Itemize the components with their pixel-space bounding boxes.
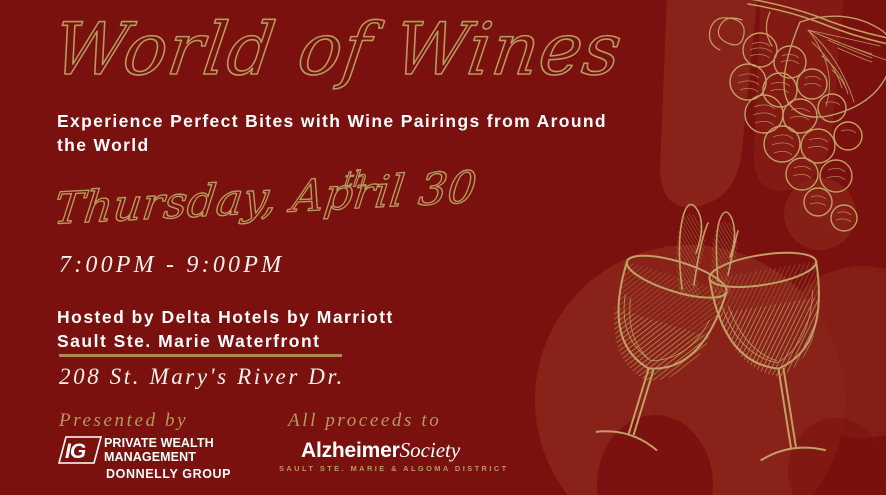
poster-content: World of Wines Experience Perfect Bites … bbox=[57, 0, 677, 495]
alzheimer-society-tagline: SAULT STE. MARIE & ALGOMA DISTRICT bbox=[279, 464, 509, 473]
event-poster: World of Wines Experience Perfect Bites … bbox=[0, 0, 886, 495]
ig-donnelly-group: DONNELLY GROUP bbox=[106, 467, 231, 481]
event-date: Thursday, April 30 th bbox=[59, 172, 389, 242]
alzheimer-society-wordmark: AlzheimerSociety bbox=[301, 438, 460, 463]
gold-divider bbox=[59, 354, 342, 357]
all-proceeds-to-label: All proceeds to bbox=[288, 410, 441, 432]
page-title: World of Wines bbox=[60, 8, 480, 96]
date-script-text: Thursday, April 30 bbox=[51, 162, 480, 234]
ig-line-2: MANAGEMENT bbox=[104, 450, 214, 464]
ig-monogram-text: IG bbox=[65, 440, 86, 463]
ig-wordmark: PRIVATE WEALTH MANAGEMENT bbox=[104, 436, 214, 464]
event-time: 7:00PM - 9:00PM bbox=[59, 252, 284, 279]
event-address: 208 St. Mary's River Dr. bbox=[59, 364, 345, 390]
grape-cluster-icon bbox=[682, 0, 886, 255]
date-ordinal-suffix: th bbox=[343, 166, 369, 193]
alzheimer-word: Alzheimer bbox=[301, 439, 400, 462]
poster-subtitle: Experience Perfect Bites with Wine Pairi… bbox=[57, 110, 637, 157]
ig-monogram-icon: IG bbox=[57, 436, 102, 464]
ig-line-1: PRIVATE WEALTH bbox=[104, 436, 214, 450]
sponsor-logo-ig-private-wealth: IG PRIVATE WEALTH MANAGEMENT DONNELLY GR… bbox=[57, 436, 257, 486]
society-word: Society bbox=[400, 438, 461, 462]
title-script-text: World of Wines bbox=[48, 8, 627, 92]
venue-line-2: Sault Ste. Marie Waterfront bbox=[57, 329, 617, 353]
venue-line-1: Hosted by Delta Hotels by Marriott bbox=[57, 305, 617, 329]
presented-by-label: Presented by bbox=[59, 410, 188, 432]
charity-logo-alzheimer-society: AlzheimerSociety SAULT STE. MARIE & ALGO… bbox=[279, 438, 524, 483]
event-venue: Hosted by Delta Hotels by Marriott Sault… bbox=[57, 305, 617, 353]
